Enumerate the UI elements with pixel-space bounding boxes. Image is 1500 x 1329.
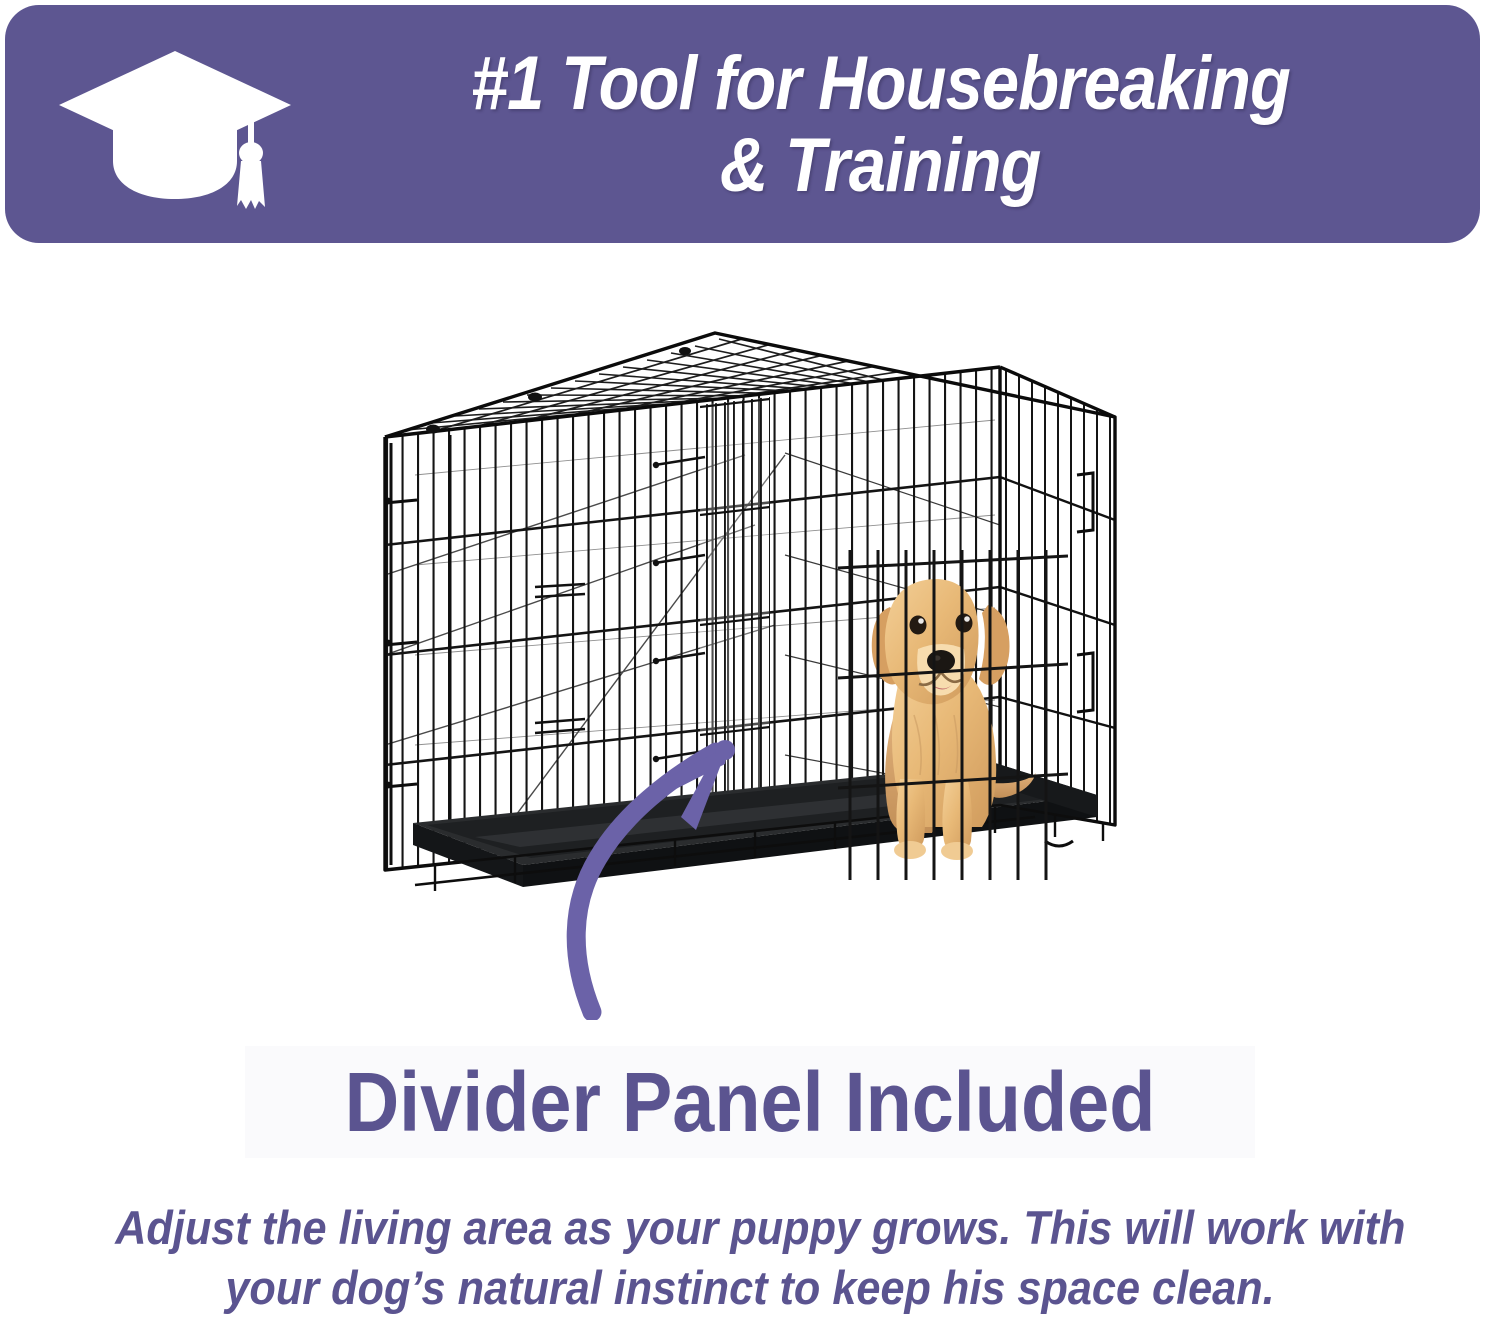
banner-line-2: & Training xyxy=(720,125,1041,207)
graduation-cap-icon xyxy=(55,43,295,218)
description-line-1: Adjust the living area as your puppy gro… xyxy=(115,1198,1385,1258)
wire-dog-crate xyxy=(355,325,1135,945)
page-title: Divider Panel Included xyxy=(75,1046,1425,1158)
banner-line-1: #1 Tool for Housebreaking xyxy=(470,43,1289,125)
banner-text-block: #1 Tool for Housebreaking & Training xyxy=(305,15,1455,235)
product-photo xyxy=(0,250,1500,1040)
description-line-2: your dog’s natural instinct to keep his … xyxy=(115,1258,1385,1318)
header-banner: #1 Tool for Housebreaking & Training xyxy=(5,5,1480,243)
description-text: Adjust the living area as your puppy gro… xyxy=(60,1198,1440,1318)
